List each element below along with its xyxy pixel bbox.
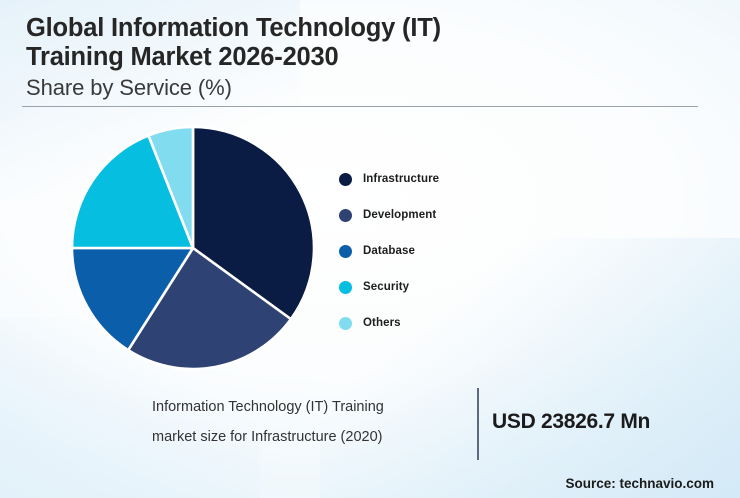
legend-label: Database [363,245,415,257]
kpi-caption-line-1: Information Technology (IT) Training [152,392,462,422]
legend-item-security[interactable]: Security [339,278,439,296]
legend-item-others[interactable]: Others [339,314,439,332]
chart-header: Global Information Technology (IT) Train… [26,14,716,102]
legend-dot-icon [339,209,352,222]
chart-area: Infrastructure Development Database Secu… [0,118,740,380]
kpi-divider [477,388,479,460]
pie-slice-group [72,127,314,369]
chart-page: Global Information Technology (IT) Train… [0,0,740,498]
legend-dot-icon [339,317,352,330]
legend-item-database[interactable]: Database [339,242,439,260]
pie-chart-svg [71,126,315,370]
chart-subtitle: Share by Service (%) [26,74,716,102]
legend-item-infrastructure[interactable]: Infrastructure [339,170,439,188]
kpi-caption-line-2: market size for Infrastructure (2020) [152,422,462,452]
kpi-value: USD 23826.7 Mn [492,410,650,434]
chart-title-line-1: Global Information Technology (IT) [26,14,716,43]
pie-chart [71,126,315,370]
legend-label: Security [363,281,409,293]
chart-footer: Information Technology (IT) Training mar… [0,388,740,498]
legend-dot-icon [339,281,352,294]
chart-legend: Infrastructure Development Database Secu… [339,170,439,350]
kpi-caption: Information Technology (IT) Training mar… [152,392,462,452]
header-divider [22,106,698,107]
source-label: Source: technavio.com [565,476,714,491]
legend-label: Infrastructure [363,173,439,185]
legend-dot-icon [339,245,352,258]
chart-title-line-2: Training Market 2026-2030 [26,43,716,72]
legend-item-development[interactable]: Development [339,206,439,224]
legend-dot-icon [339,173,352,186]
legend-label: Others [363,317,401,329]
legend-label: Development [363,209,436,221]
